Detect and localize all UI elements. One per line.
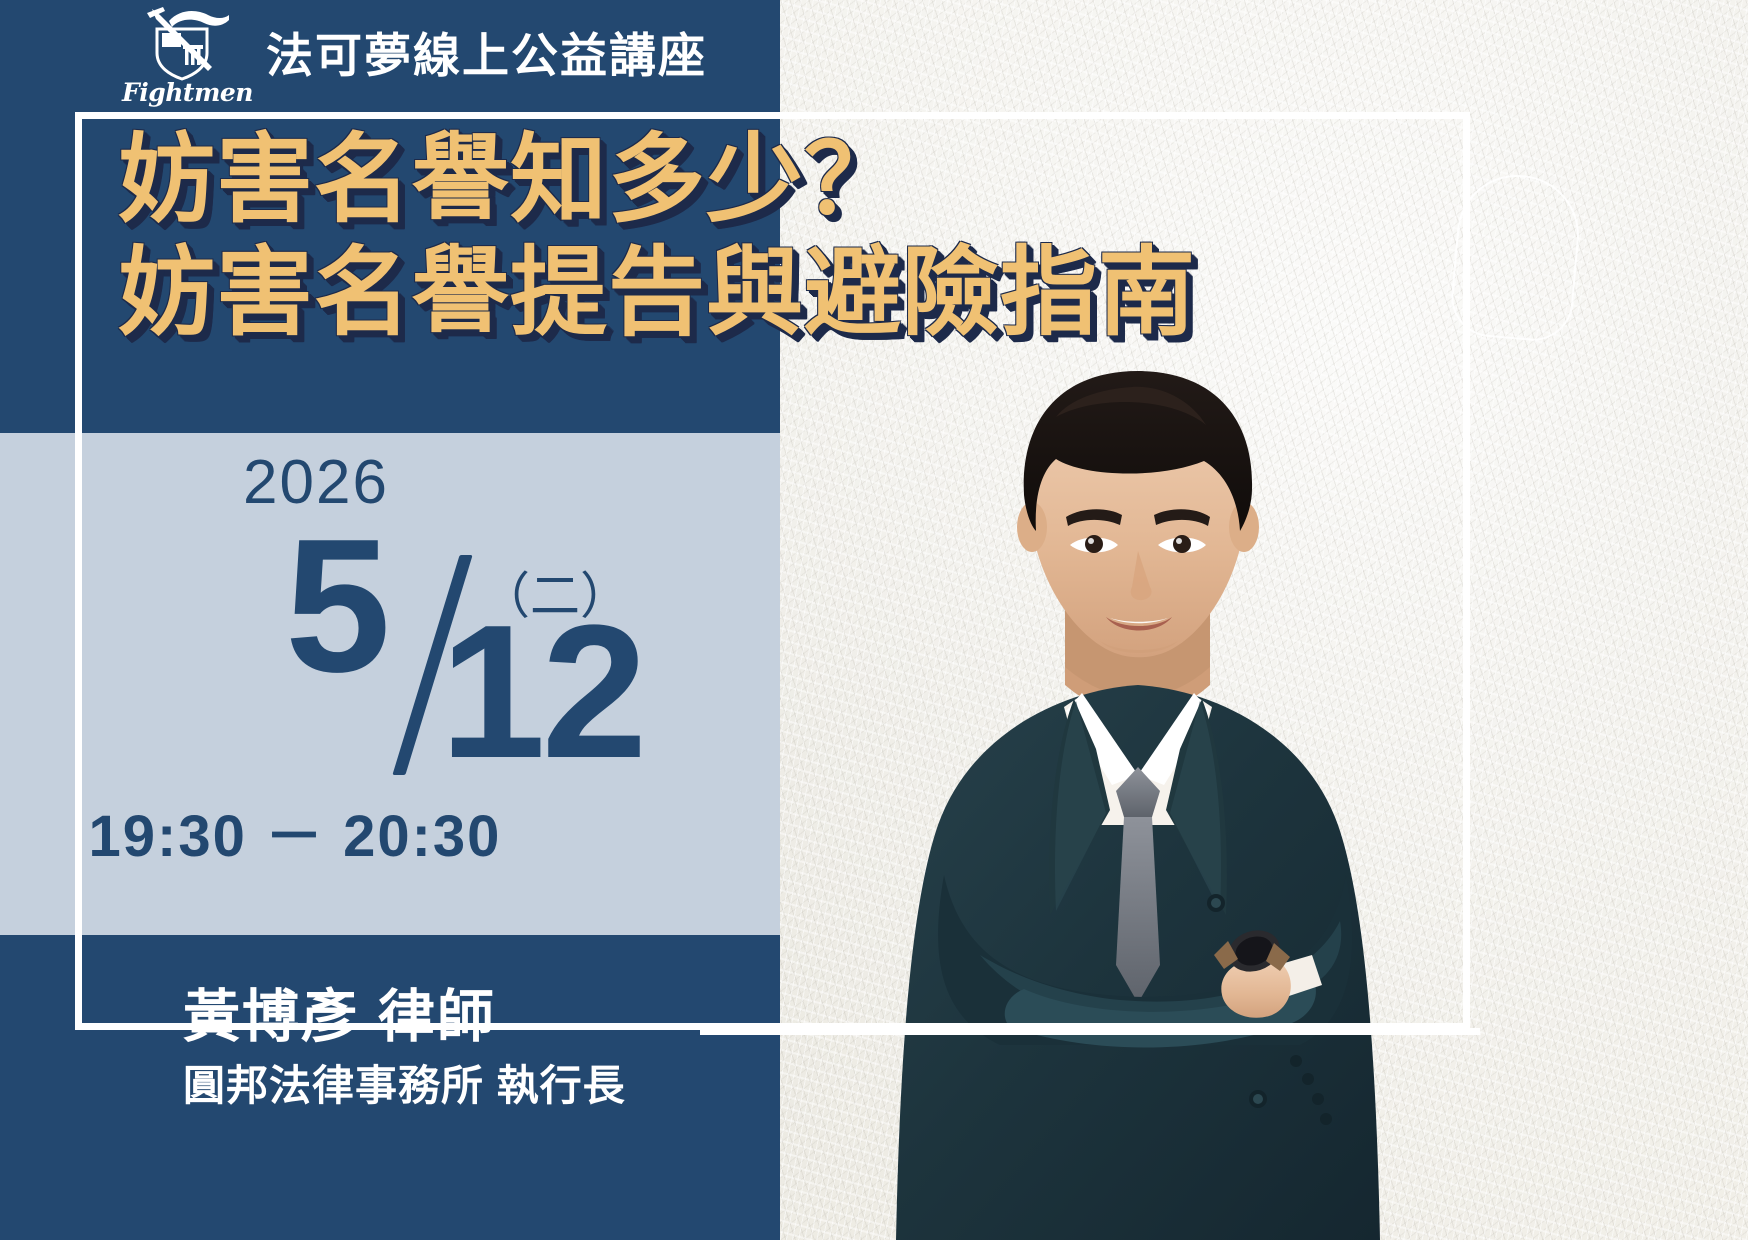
main-title-line-2: 妨害名譽提告與避險指南 [118,243,1418,344]
event-date-block: 2026 5 （二） 12 19:30 － 20:30 [0,433,780,935]
event-time: 19:30 － 20:30 [0,808,780,866]
event-day: 12 [440,597,643,787]
shield-flag-icon [122,3,242,81]
white-frame-bottom-segment [700,1028,1480,1035]
speaker-role: 圓邦法律事務所 執行長 [183,1061,626,1111]
event-date-large: 5 （二） 12 [230,511,730,791]
event-month: 5 [285,511,389,701]
main-title-line-1: 妨害名譽知多少？ [118,130,1418,231]
main-title: 妨害名譽知多少？ 妨害名譽提告與避險指南 [118,130,1418,344]
poster-canvas: Fightmen 法可夢線上公益講座 妨害名譽知多少？ 妨害名譽提告與避險指南 … [0,0,1748,1240]
header-title: 法可夢線上公益講座 [266,32,707,79]
speaker-info: 黃博彥 律師 圓邦法律事務所 執行長 [183,985,626,1111]
poster-header: Fightmen 法可夢線上公益講座 [0,0,780,110]
speaker-portrait [860,355,1420,1240]
speaker-name: 黃博彥 律師 [183,985,626,1051]
brand-logo-wordmark: Fightmen [122,80,242,105]
brand-logo: Fightmen [122,3,242,107]
